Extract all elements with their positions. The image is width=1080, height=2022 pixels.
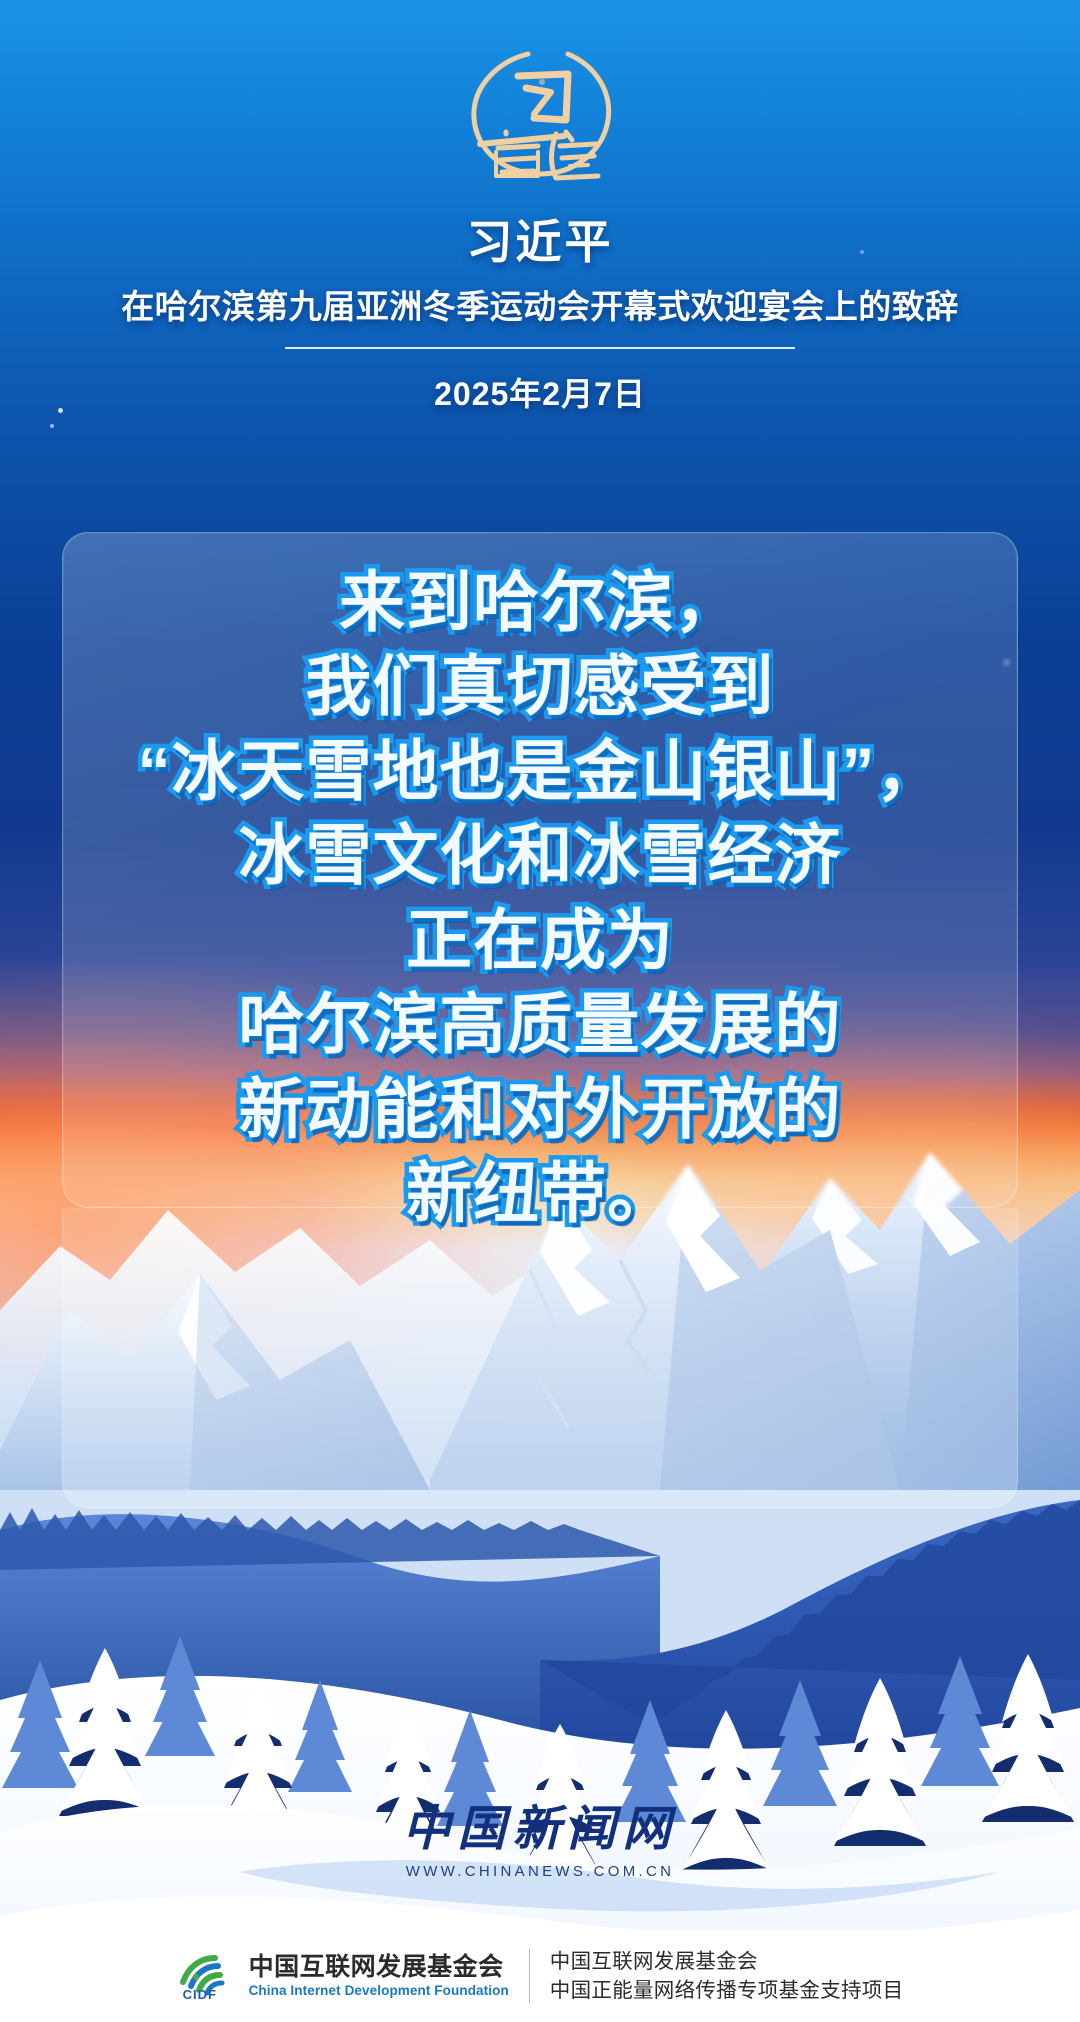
speech-subtitle: 在哈尔滨第九届亚洲冬季运动会开幕式欢迎宴会上的致辞	[0, 287, 1080, 327]
chinanews-name: 中国新闻网	[402, 1806, 677, 1854]
speech-date: 2025年2月7日	[0, 369, 1080, 415]
header-divider	[285, 347, 795, 349]
footer-bar: CIDF 中国互联网发展基金会 China Internet Developme…	[0, 1930, 1080, 2022]
cidf-name-cn: 中国互联网发展基金会	[249, 1954, 504, 1980]
cidf-name-block: 中国互联网发展基金会 China Internet Development Fo…	[249, 1954, 509, 1998]
cidf-abbreviation: CIDF	[183, 1987, 217, 2002]
snow-speck	[50, 424, 54, 428]
poster-root: 习近平 在哈尔滨第九届亚洲冬季运动会开幕式欢迎宴会上的致辞 2025年2月7日 …	[0, 0, 1080, 2022]
quote-card-panel-extension	[62, 1208, 1018, 1508]
cidf-logo-mark: CIDF	[177, 1952, 231, 2000]
footer-support-text: 中国互联网发展基金会 中国正能量网络传播专项基金支持项目	[550, 1947, 904, 2005]
chinanews-logo: 中国新闻网 WWW.CHINANEWS.COM.CN	[402, 1806, 677, 1880]
chinanews-url: WWW.CHINANEWS.COM.CN	[402, 1863, 677, 1880]
speaker-name: 习近平	[0, 216, 1080, 269]
footer-vertical-divider	[529, 1949, 530, 2003]
footer-support-line-2: 中国正能量网络传播专项基金支持项目	[550, 1976, 904, 2005]
xi-yan-dao-seal-logo	[456, 36, 624, 186]
quote-card-panel	[62, 532, 1018, 1208]
cidf-name-en: China Internet Development Foundation	[249, 1983, 509, 1998]
header-block: 习近平 在哈尔滨第九届亚洲冬季运动会开幕式欢迎宴会上的致辞 2025年2月7日	[0, 216, 1080, 415]
footer-support-line-1: 中国互联网发展基金会	[550, 1947, 904, 1976]
